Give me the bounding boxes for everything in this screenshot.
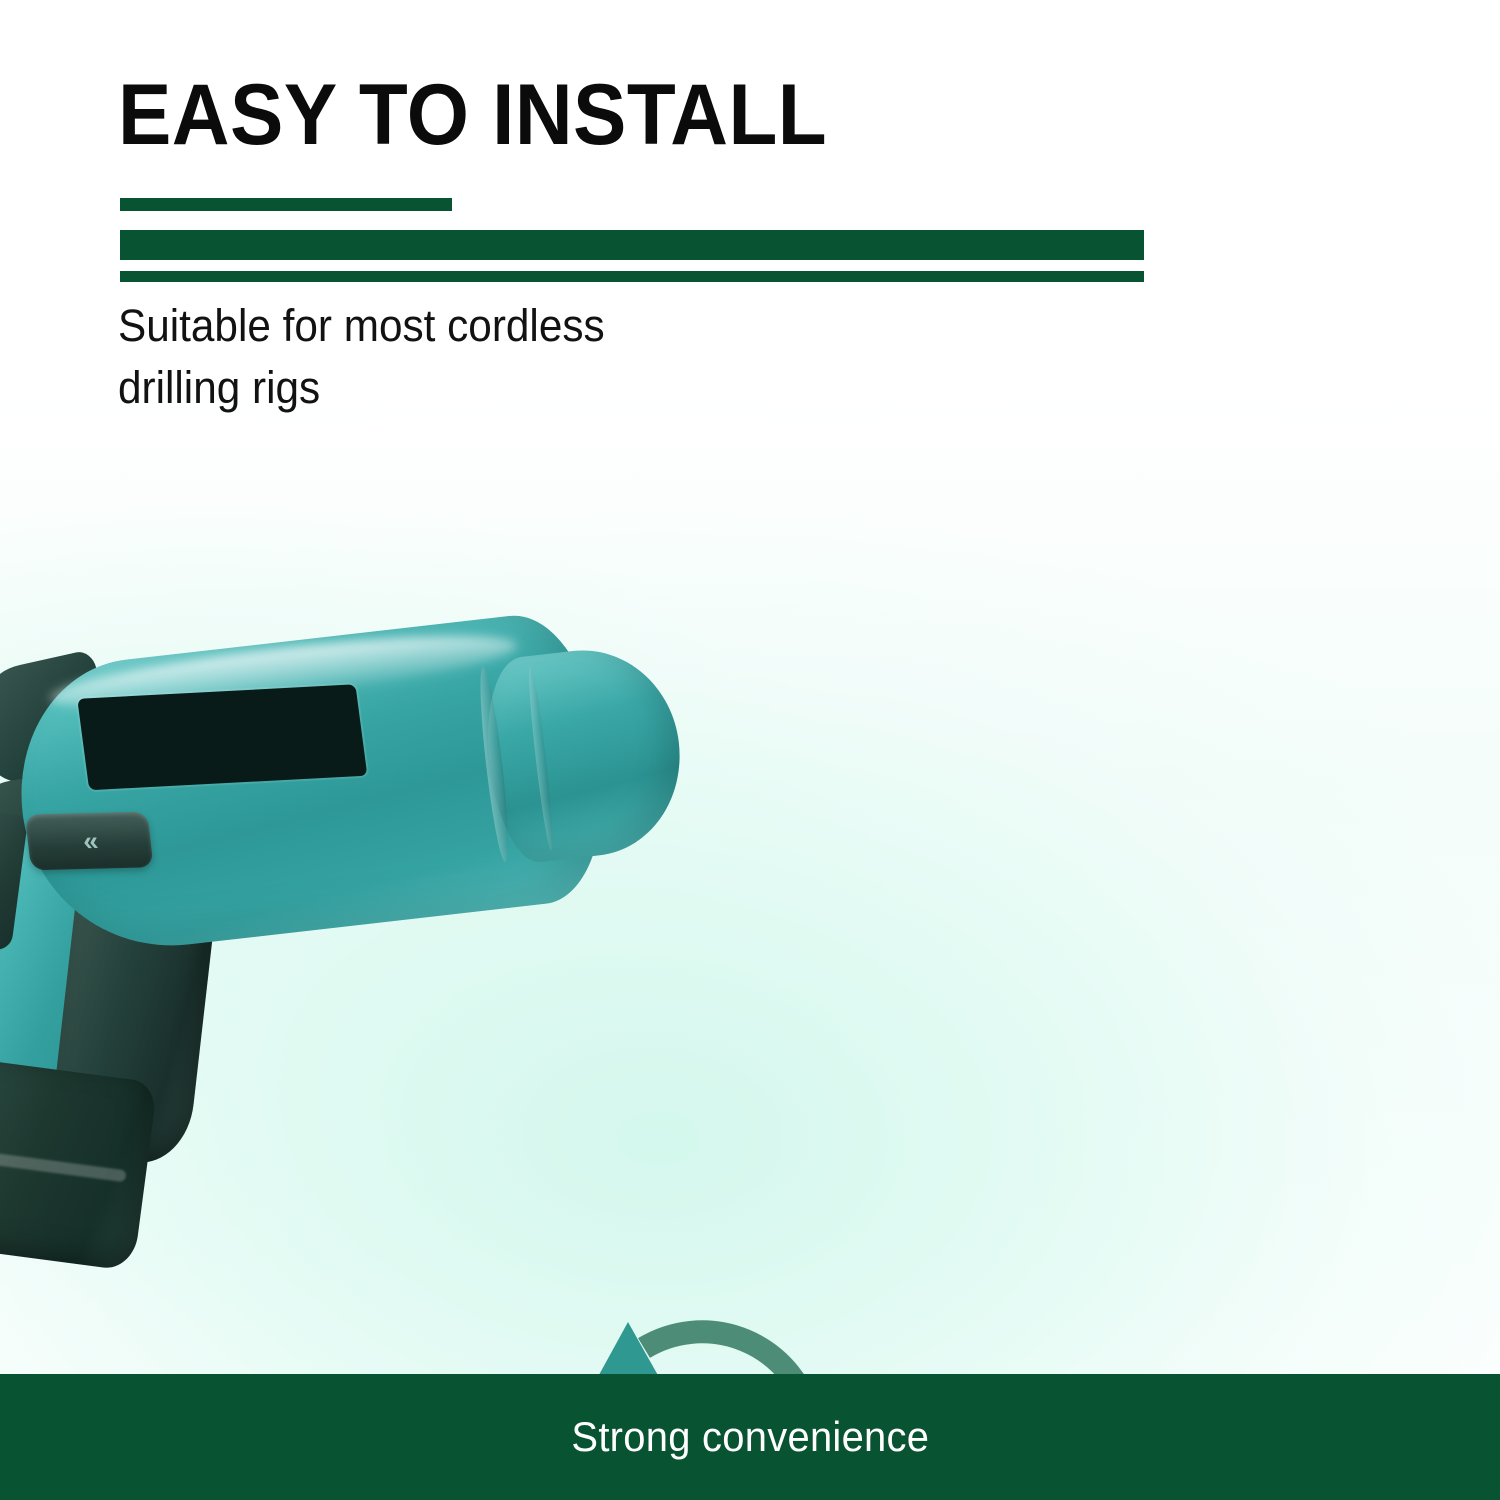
drill-direction-switch: « [25, 812, 154, 871]
accent-rule-short [120, 198, 452, 211]
drill-gearbox-nose [478, 640, 690, 866]
product-illustration: « [0, 600, 1500, 1320]
footer-banner: Strong convenience [0, 1374, 1500, 1500]
drill-label-panel [77, 684, 367, 790]
cordless-drill: « [0, 545, 822, 1296]
accent-rule-group [120, 198, 1144, 282]
page-subtitle: Suitable for most cordless drilling rigs [118, 295, 605, 419]
accent-rule-thin [120, 271, 1144, 282]
direction-switch-icon: « [81, 825, 97, 856]
page-title: EASY TO INSTALL [118, 72, 827, 158]
footer-banner-text: Strong convenience [571, 1413, 929, 1461]
marketing-image-canvas: EASY TO INSTALL Suitable for most cordle… [0, 0, 1500, 1500]
accent-rule-thick [120, 230, 1144, 260]
